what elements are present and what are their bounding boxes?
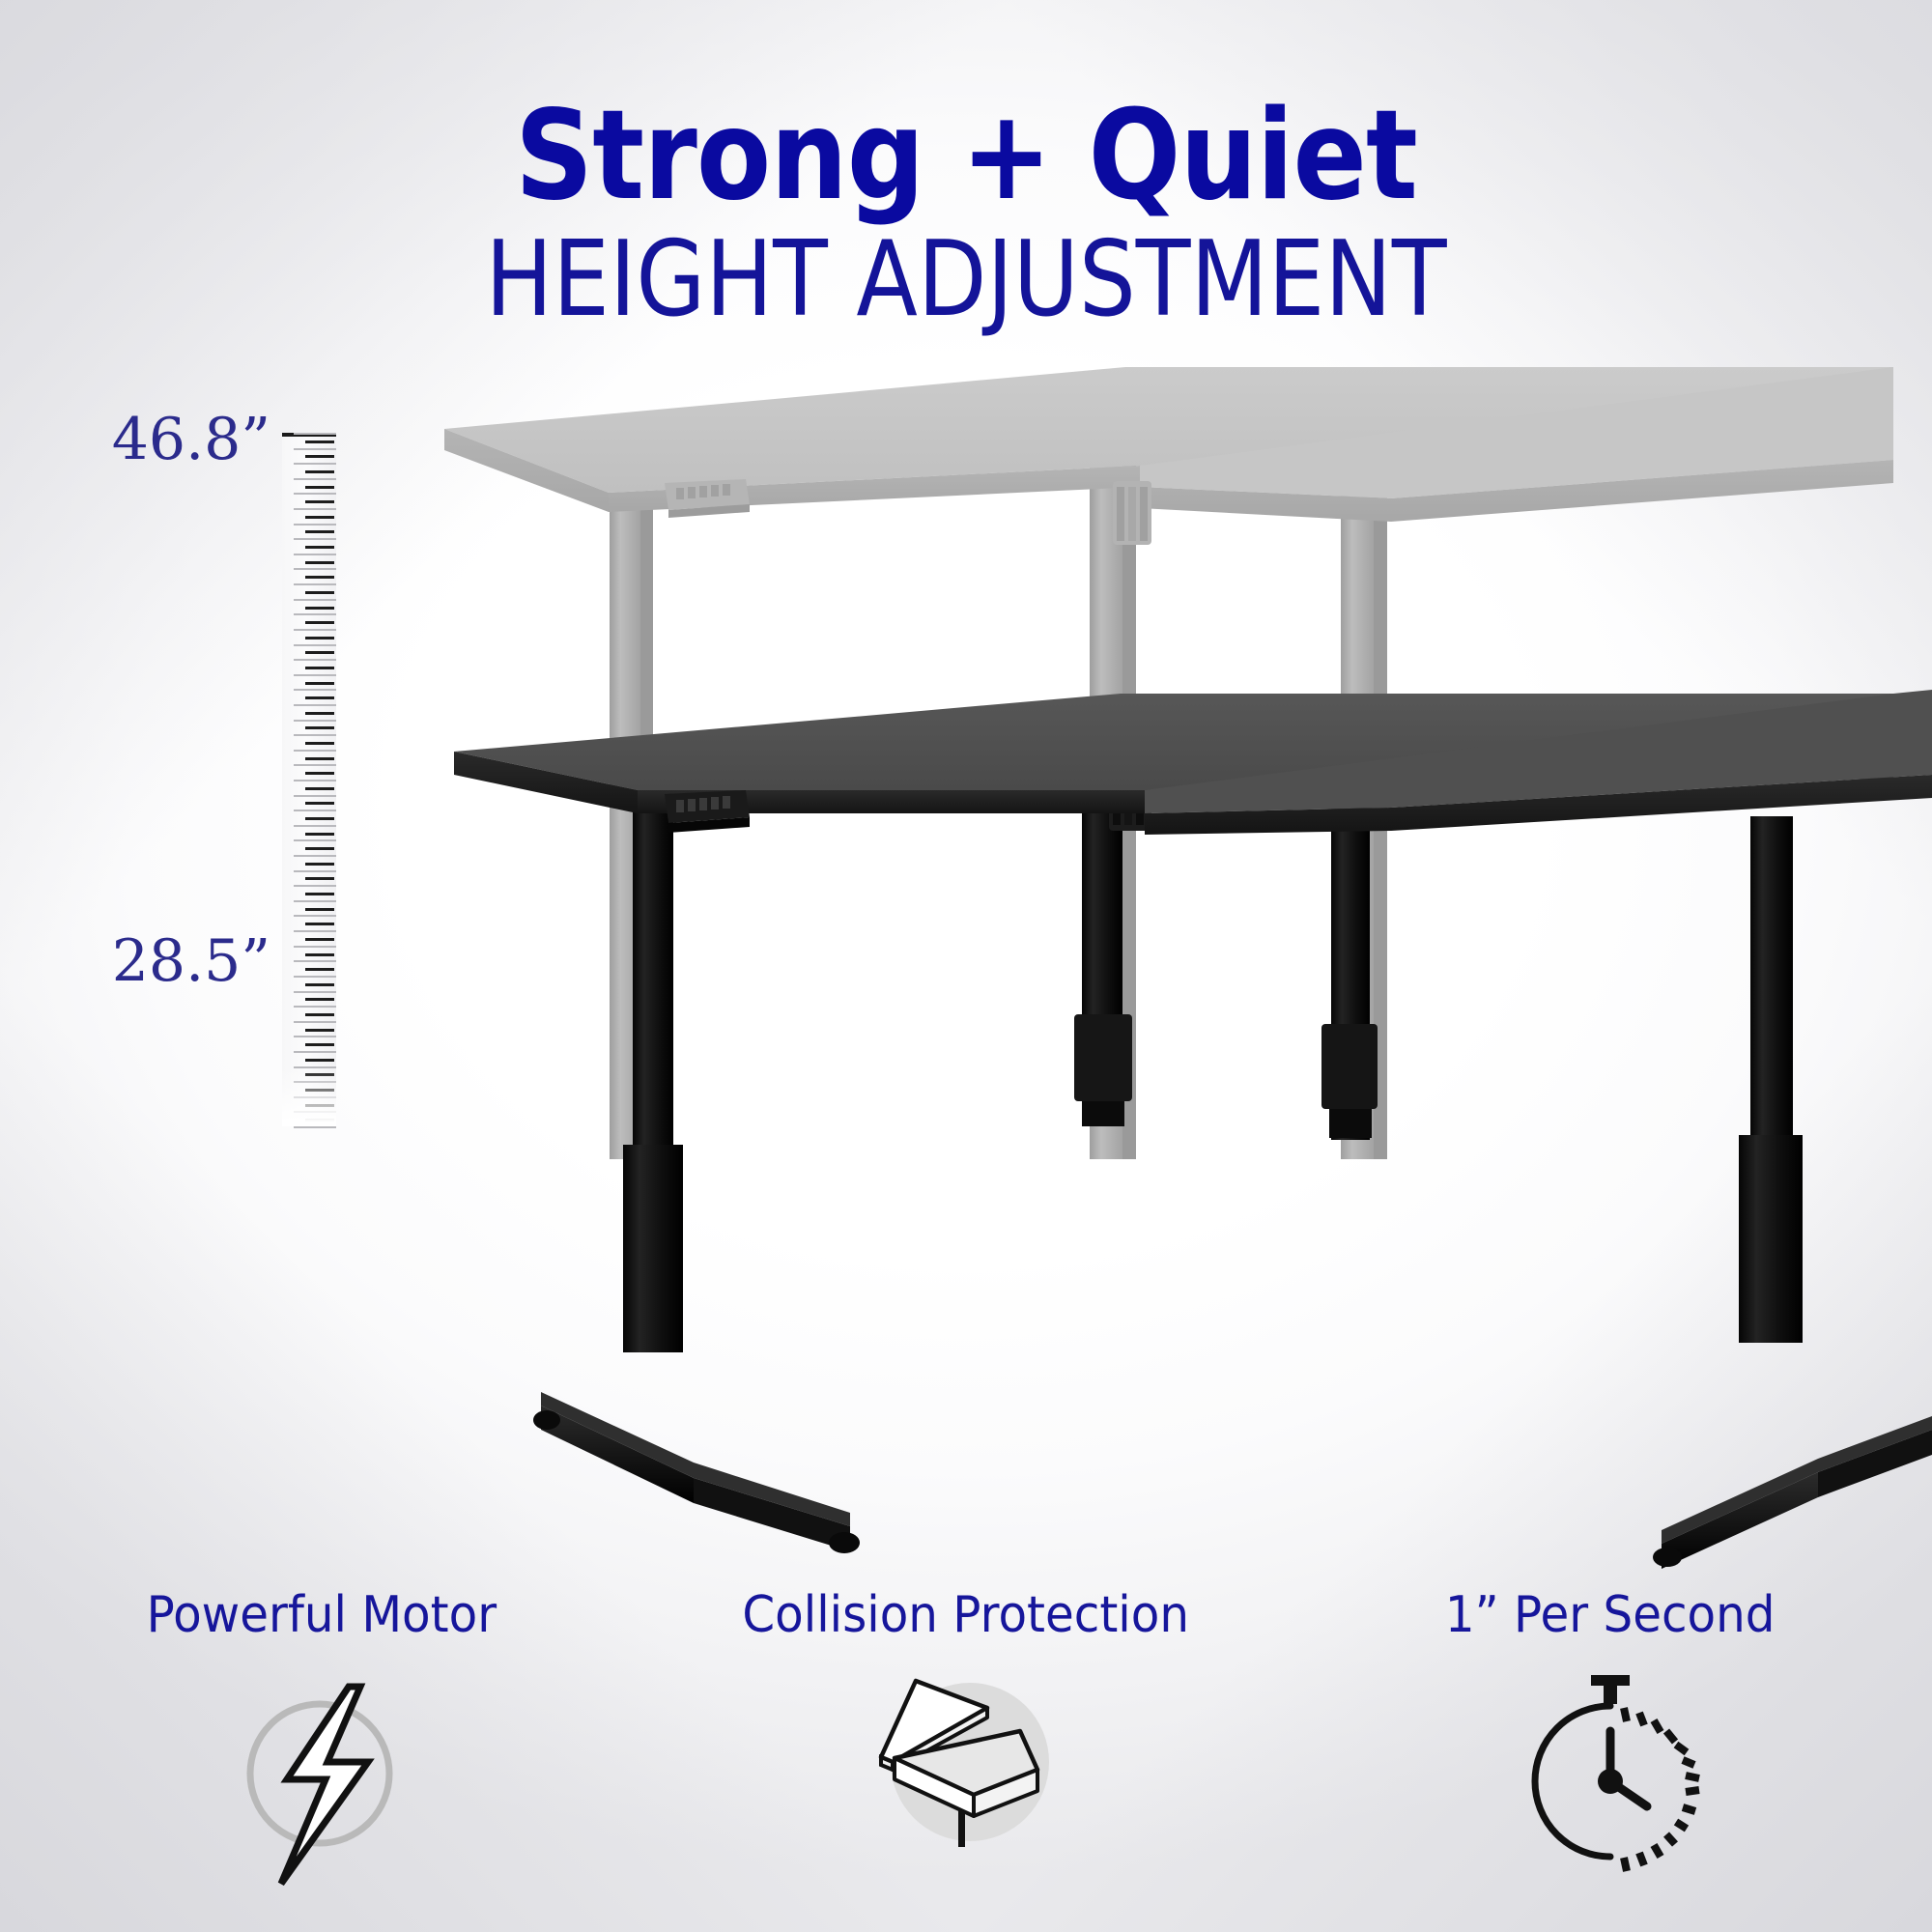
ruler-tick-minor (294, 780, 336, 781)
max-height-label: 46.8” (58, 406, 270, 473)
ruler-tick-minor (294, 478, 336, 480)
ruler-tick-major (305, 637, 334, 639)
ruler-tick-minor (294, 1051, 336, 1053)
ruler-tick-minor (294, 508, 336, 510)
feature-row: Powerful Motor Collision Protection (0, 1589, 1932, 1932)
ruler-tick-major (305, 576, 334, 579)
ruler-tick-major (305, 863, 334, 866)
ruler-tick-major (305, 817, 334, 820)
ruler-tick-minor (294, 448, 336, 450)
ruler-tick-major (305, 546, 334, 549)
ruler-tick-minor (294, 644, 336, 646)
ruler-tick-major (305, 938, 334, 941)
ruler-tick-major (305, 983, 334, 986)
ruler-tick-major (305, 893, 334, 895)
ruler-ticks (282, 433, 336, 1126)
desktop-collision-icon (850, 1665, 1082, 1897)
ruler-tick-major (305, 470, 334, 473)
ruler-tick-minor (294, 659, 336, 661)
ruler-tick-minor (294, 750, 336, 752)
ruler-tick-major (305, 500, 334, 503)
ruler-tick-major (305, 908, 334, 911)
ruler-tick-minor (294, 930, 336, 932)
ruler-tick-minor (294, 720, 336, 722)
ruler-tick-minor (294, 463, 336, 465)
ruler-tick-minor (294, 734, 336, 736)
feature-label: Powerful Motor (147, 1589, 497, 1642)
ruler-tick-major (305, 712, 334, 715)
ruler-tick-minor (294, 946, 336, 948)
ruler-tick-major (305, 877, 334, 880)
ruler-tick-major (305, 455, 334, 458)
ruler-tick-minor (294, 855, 336, 857)
feature-collision-protection: Collision Protection (644, 1589, 1289, 1932)
ruler-tick-major (305, 772, 334, 775)
ruler-tick-major (305, 923, 334, 925)
min-height-label: 28.5” (58, 927, 270, 995)
ruler-tick-minor (294, 825, 336, 827)
ruler-tick-minor (294, 1006, 336, 1008)
page-title: Strong + Quiet (116, 0, 1816, 218)
ruler-tick-major (305, 1013, 334, 1016)
stopwatch-icon (1494, 1665, 1726, 1897)
lowered-desk (454, 690, 1932, 1569)
ruler-tick-major (305, 787, 334, 790)
headline-block: Strong + Quiet HEIGHT ADJUSTMENT (0, 0, 1932, 332)
ruler-tick-minor (294, 795, 336, 797)
feature-powerful-motor: Powerful Motor (0, 1589, 644, 1932)
ruler-tick-minor (294, 1021, 336, 1023)
ruler-tick-major (305, 1059, 334, 1062)
ruler-tick-minor (294, 629, 336, 631)
ruler-tick-major (305, 726, 334, 729)
ruler-tick-minor (294, 554, 336, 555)
ruler-tick-minor (294, 674, 336, 676)
feature-label: Collision Protection (743, 1589, 1190, 1642)
ruler-tick-major (305, 530, 334, 533)
lowered-desk-leg-right (1653, 816, 1932, 1569)
lightning-bolt-icon (206, 1665, 438, 1897)
ruler-tick-major (305, 998, 334, 1001)
ruler-tick-minor (294, 493, 336, 495)
page-subtitle: HEIGHT ADJUSTMENT (135, 218, 1797, 332)
ruler-fade (282, 1068, 336, 1126)
ruler-tick-minor (294, 1036, 336, 1037)
ruler-tick-major (305, 486, 334, 489)
ruler-tick-minor (294, 689, 336, 691)
ruler-tick-major (305, 621, 334, 624)
ruler-tick-minor (294, 900, 336, 902)
ruler-tick-major (305, 607, 334, 610)
ruler-tick-major (305, 682, 334, 685)
ruler-tick-minor (294, 839, 336, 841)
ruler-tick-major (305, 757, 334, 760)
ruler-tick-major (305, 742, 334, 745)
ruler-tick-major (305, 591, 334, 594)
ruler-tick-minor (294, 960, 336, 962)
ruler-tick-major (305, 833, 334, 836)
ruler-tick-minor (294, 991, 336, 993)
ruler-tick-minor (294, 538, 336, 540)
ruler-tick-minor (294, 764, 336, 766)
ruler-tick-minor (294, 885, 336, 887)
ruler-tick-minor (294, 599, 336, 601)
ruler-tick-major (305, 1043, 334, 1046)
ruler-tick-major (305, 1029, 334, 1032)
ruler-tick-major (305, 516, 334, 519)
ruler-tick-major (305, 651, 334, 654)
ruler-tick-major (305, 953, 334, 956)
raised-desk-control-panel[interactable] (665, 479, 750, 518)
ruler-tick-major (305, 561, 334, 564)
ruler-tick-minor (294, 976, 336, 978)
ruler-tick-major (305, 847, 334, 850)
height-ruler (282, 433, 336, 1126)
lowered-desk-leg-left (533, 790, 860, 1553)
feature-label: 1” Per Second (1445, 1589, 1776, 1642)
ruler-tick-minor (294, 433, 336, 435)
ruler-tick-minor (294, 915, 336, 917)
ruler-tick-minor (294, 524, 336, 526)
ruler-tick-minor (294, 810, 336, 811)
ruler-tick-major (305, 667, 334, 669)
ruler-tick-major (305, 696, 334, 699)
ruler-tick-minor (294, 583, 336, 585)
ruler-tick-minor (294, 870, 336, 872)
feature-speed: 1” Per Second (1288, 1589, 1932, 1932)
raised-desk-corner-bracket (1113, 481, 1151, 545)
lowered-desk-control-panel[interactable] (665, 790, 750, 833)
infographic-canvas: Strong + Quiet HEIGHT ADJUSTMENT 46.8” 2… (0, 0, 1932, 1932)
ruler-tick-minor (294, 568, 336, 570)
ruler-tick-minor (294, 704, 336, 706)
ruler-tick-major (305, 968, 334, 971)
ruler-tick-minor (294, 613, 336, 615)
ruler-tick-minor (294, 1126, 336, 1128)
ruler-tick-major (305, 802, 334, 805)
ruler-tick-major (305, 440, 334, 443)
